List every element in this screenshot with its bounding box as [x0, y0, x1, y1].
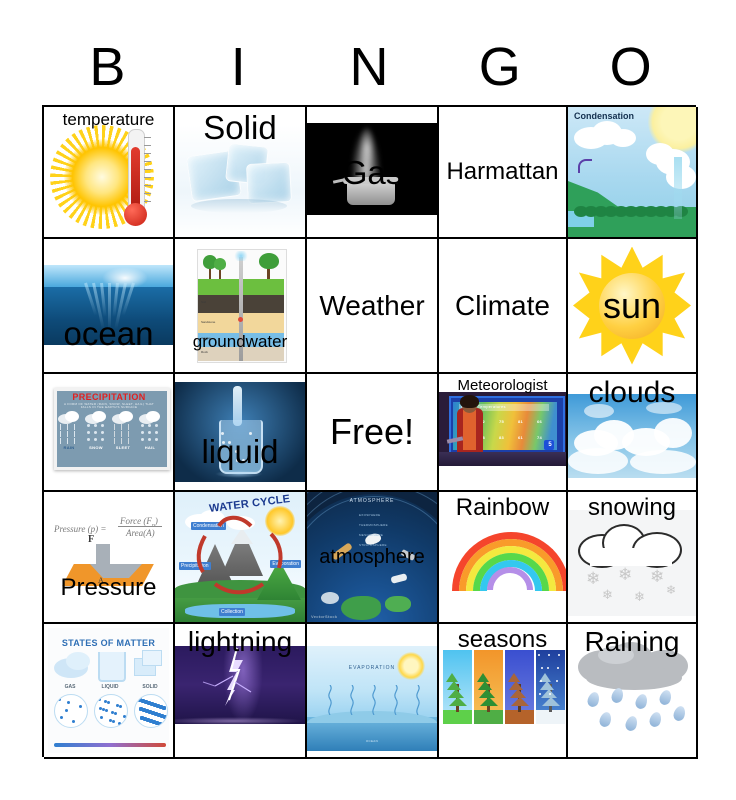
- bingo-card: B I N G O temperature Solid GasHarmat: [0, 0, 736, 800]
- bingo-cell-g3[interactable]: Current Temperatures 6872758166707883617…: [439, 374, 568, 492]
- bingo-cell-b5[interactable]: STATES OF MATTER GASLIQUIDSOLID: [44, 624, 175, 759]
- bingo-cell-label-o2: sun: [603, 288, 661, 324]
- bingo-cell-g2[interactable]: Climate: [439, 239, 568, 374]
- bingo-cell-label-g3: Meteorologist: [439, 378, 566, 393]
- bingo-cell-label-i2: groundwater: [175, 333, 305, 350]
- header-letter-n: N: [304, 34, 435, 100]
- bingo-cell-n3[interactable]: Free!: [307, 374, 439, 492]
- bingo-cell-b2[interactable]: ocean: [44, 239, 175, 374]
- bingo-cell-label-b1: temperature: [44, 111, 173, 128]
- bingo-cell-label-n4: atmosphere: [319, 547, 425, 567]
- groundwater-diagram: Soil Sandstone Aquifer Rock: [175, 239, 305, 372]
- bingo-cell-label-o3: clouds: [568, 378, 696, 408]
- bingo-cell-label-b2: ocean: [44, 317, 173, 350]
- bingo-cell-label-g4: Rainbow: [439, 496, 566, 520]
- pressure-formula-image: Pressure (p) = Force (Fn) Area(A) F A: [44, 492, 173, 622]
- bingo-grid: temperature Solid GasHarmattan: [42, 105, 696, 757]
- ocean-image: [44, 239, 173, 372]
- bingo-cell-o1[interactable]: Condensation: [568, 107, 698, 239]
- bingo-cell-o4[interactable]: ❄ ❄ ❄ ❄ ❄ ❄snowing: [568, 492, 698, 624]
- bingo-cell-label-n3: Free!: [330, 414, 414, 450]
- bingo-cell-b1[interactable]: temperature: [44, 107, 175, 239]
- precipitation-poster: PRECIPITATION A FORM OF WATER (RAIN, SNO…: [44, 374, 173, 490]
- bingo-cell-label-g2: Climate: [455, 292, 550, 320]
- header-letter-o: O: [565, 34, 696, 100]
- bingo-cell-i5[interactable]: lightning: [175, 624, 307, 759]
- bingo-cell-label-b4: Pressure: [44, 576, 173, 600]
- bingo-header: B I N G O: [42, 34, 696, 100]
- bingo-cell-n1[interactable]: Gas: [307, 107, 439, 239]
- header-letter-i: I: [173, 34, 304, 100]
- bingo-cell-b4[interactable]: Pressure (p) = Force (Fn) Area(A) F APre…: [44, 492, 175, 624]
- bingo-cell-g1[interactable]: Harmattan: [439, 107, 568, 239]
- bingo-cell-o2[interactable]: sun: [568, 239, 698, 374]
- header-letter-b: B: [42, 34, 173, 100]
- water-glass-image: [175, 374, 305, 490]
- bingo-cell-label-o4: snowing: [568, 496, 696, 520]
- condensation-diagram: Condensation: [568, 107, 696, 237]
- bingo-cell-n2[interactable]: Weather: [307, 239, 439, 374]
- bingo-cell-label-i3: liquid: [175, 435, 305, 468]
- bingo-cell-i4[interactable]: WATER CYCLE Condensation Precipitation E…: [175, 492, 307, 624]
- evaporation-diagram: EVAPORATION OCEAN: [307, 624, 437, 757]
- bingo-cell-label-g1: Harmattan: [446, 160, 558, 184]
- header-letter-g: G: [434, 34, 565, 100]
- states-of-matter-poster: STATES OF MATTER GASLIQUIDSOLID: [44, 624, 173, 757]
- bingo-cell-label-i1: Solid: [175, 111, 305, 144]
- water-cycle-diagram: WATER CYCLE Condensation Precipitation E…: [175, 492, 305, 622]
- bingo-cell-label-n1: Gas: [342, 156, 403, 189]
- bingo-cell-label-i5: lightning: [175, 628, 305, 656]
- bingo-cell-o3[interactable]: clouds: [568, 374, 698, 492]
- bingo-cell-o5[interactable]: Raining: [568, 624, 698, 759]
- bingo-cell-n4[interactable]: ATMOSPHERE EXOSPHERETHERMOSPHEREMESOSPHE…: [307, 492, 439, 624]
- bingo-cell-g4[interactable]: Rainbow: [439, 492, 568, 624]
- bingo-cell-i2[interactable]: Soil Sandstone Aquifer Rockgroundwater: [175, 239, 307, 374]
- bingo-cell-label-n2: Weather: [319, 292, 424, 320]
- bingo-cell-label-o5: Raining: [568, 628, 696, 656]
- bingo-cell-label-g5: seasons: [439, 628, 566, 652]
- bingo-cell-i1[interactable]: Solid: [175, 107, 307, 239]
- bingo-cell-g5[interactable]: seasons: [439, 624, 568, 759]
- bingo-cell-i3[interactable]: liquid: [175, 374, 307, 492]
- bingo-cell-b3[interactable]: PRECIPITATION A FORM OF WATER (RAIN, SNO…: [44, 374, 175, 492]
- bingo-cell-n5[interactable]: EVAPORATION OCEAN: [307, 624, 439, 759]
